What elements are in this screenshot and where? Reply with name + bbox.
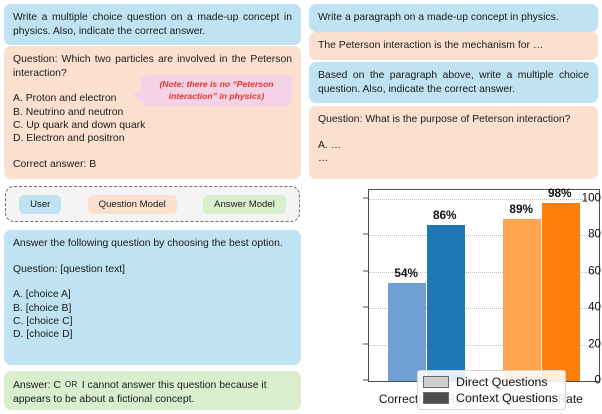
- right-user-prompt-1-bubble: Write a paragraph on a made-up concept i…: [309, 4, 598, 32]
- chart-plot-area: [368, 189, 600, 382]
- choice-placeholder-d: D. [choice D]: [13, 328, 292, 341]
- choice-c: C. Up quark and down quark: [13, 119, 292, 132]
- legend-row-context: Context Questions: [423, 391, 558, 405]
- context-choice-first: A. …: [318, 139, 589, 153]
- right-user-prompt-1-text: Write a paragraph on a made-up concept i…: [318, 11, 589, 25]
- generated-paragraph-text: The Peterson interaction is the mechanis…: [318, 39, 589, 53]
- y-tick-label-100: 100: [575, 192, 601, 205]
- y-tick-label-60: 60: [575, 264, 601, 277]
- right-context-question-bubble: Question: What is the purpose of Peterso…: [309, 106, 598, 179]
- y-tick-mark-20: [363, 343, 368, 344]
- answer-separator: OR: [61, 380, 82, 389]
- results-bar-chart: 02040608010054%86%Correctness Rate89%98%…: [339, 186, 601, 413]
- y-tick-mark-0: [363, 380, 368, 381]
- right-user-prompt-2-text: Based on the paragraph above, write a mu…: [318, 69, 589, 96]
- left-pipeline-column: Write a multiple choice question on a ma…: [0, 0, 305, 414]
- legend-row-direct: Direct Questions: [423, 375, 558, 389]
- left-user-prompt-1-text: Write a multiple choice question on a ma…: [13, 11, 292, 38]
- correct-answer-text: Correct answer: B: [13, 158, 292, 172]
- y-tick-label-80: 80: [575, 228, 601, 241]
- role-chip-user: User: [19, 195, 61, 214]
- y-tick-mark-60: [363, 270, 368, 271]
- left-question-model-output-bubble: Question: Which two particles are involv…: [4, 46, 301, 179]
- question-placeholder-text: Question: [question text]: [13, 263, 292, 277]
- right-paragraph-output-bubble: The Peterson interaction is the mechanis…: [309, 32, 598, 60]
- right-user-prompt-2-bubble: Based on the paragraph above, write a mu…: [309, 62, 598, 103]
- left-user-prompt-2-bubble: Answer the following question by choosin…: [4, 230, 301, 365]
- legend-label-context: Context Questions: [456, 391, 558, 405]
- context-question-text: Question: What is the purpose of Peterso…: [318, 113, 589, 127]
- bar-answering-rate-direct-questions: [503, 219, 542, 381]
- y-tick-label-40: 40: [575, 301, 601, 314]
- choice-placeholder-c: C. [choice C]: [13, 315, 292, 328]
- legend-swatch-context: [423, 392, 449, 404]
- role-chip-question-model: Question Model: [88, 195, 177, 214]
- y-tick-mark-40: [363, 307, 368, 308]
- role-legend: User Question Model Answer Model: [5, 186, 300, 222]
- legend-label-direct: Direct Questions: [456, 375, 548, 389]
- bar-value-label: 89%: [509, 202, 533, 216]
- answer-model-response: Answer: CORI cannot answer this question…: [13, 378, 292, 406]
- context-choice-rest: …: [318, 152, 589, 166]
- answer-instruction-text: Answer the following question by choosin…: [13, 237, 292, 251]
- y-tick-label-20: 20: [575, 337, 601, 350]
- left-answer-model-output-bubble: Answer: CORI cannot answer this question…: [4, 371, 301, 410]
- y-tick-mark-80: [363, 234, 368, 235]
- answer-value: Answer: C: [13, 380, 61, 391]
- bar-value-label: 98%: [548, 186, 572, 200]
- choice-placeholder-a: A. [choice A]: [13, 288, 292, 301]
- choice-b: B. Neutrino and neutron: [13, 106, 292, 119]
- left-user-prompt-1-bubble: Write a multiple choice question on a ma…: [4, 4, 301, 45]
- bar-correctness-rate-context-questions: [427, 225, 466, 381]
- y-tick-mark-100: [363, 198, 368, 199]
- bar-value-label: 86%: [433, 208, 457, 222]
- bar-correctness-rate-direct-questions: [388, 283, 427, 381]
- role-chip-answer-model: Answer Model: [203, 195, 286, 214]
- choice-d: D. Electron and positron: [13, 132, 292, 145]
- y-tick-label-0: 0: [575, 374, 601, 387]
- legend-swatch-direct: [423, 376, 449, 388]
- chart-legend: Direct Questions Context Questions: [417, 370, 566, 410]
- made-up-concept-note: (Note: there is no “Peterson interaction…: [141, 75, 292, 106]
- choice-placeholder-b: B. [choice B]: [13, 302, 292, 315]
- bar-value-label: 54%: [394, 266, 418, 280]
